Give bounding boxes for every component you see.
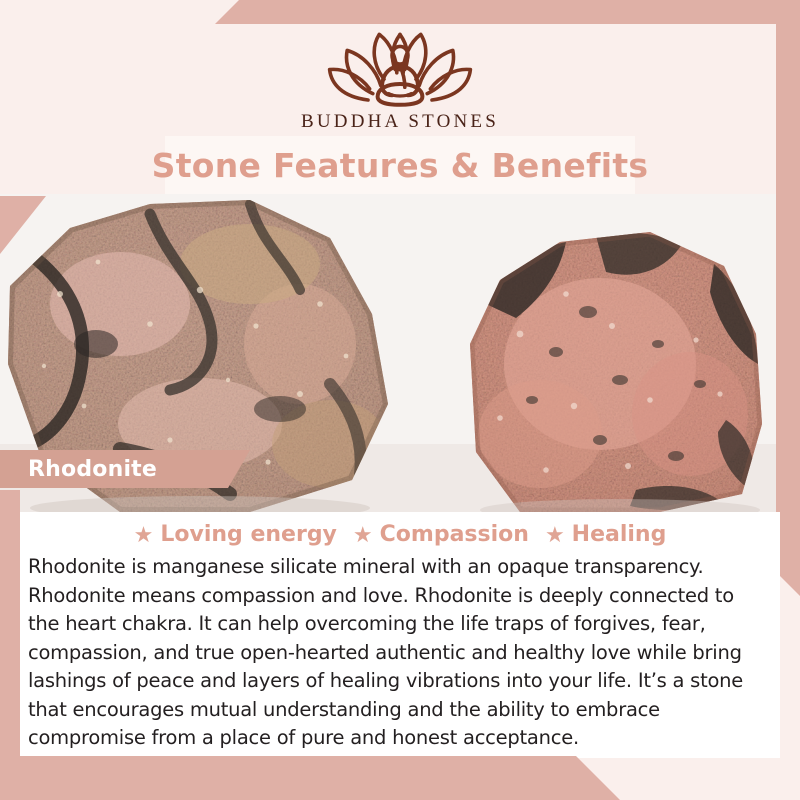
feature-label: Healing [572,522,667,547]
brand-header: BUDDHA STONES [0,20,800,145]
feature-item-loving-energy: ★ Loving energy [134,522,337,547]
stone-name: Rhodonite [0,457,157,482]
infographic-poster: BUDDHA STONES Stone Features & Benefits [0,0,800,800]
feature-list: ★ Loving energy ★ Compassion ★ Healing [20,512,780,547]
description-panel: ★ Loving energy ★ Compassion ★ Healing R… [20,512,780,758]
feature-item-healing: ★ Healing [545,522,666,547]
stone-name-tag: Rhodonite [0,450,250,488]
star-icon: ★ [353,524,373,546]
page-title: Stone Features & Benefits [152,146,649,185]
title-banner: Stone Features & Benefits [165,136,635,194]
star-icon: ★ [545,524,565,546]
star-icon: ★ [134,524,154,546]
feature-label: Compassion [380,522,529,547]
stone-description: Rhodonite is manganese silicate mineral … [28,553,770,753]
feature-label: Loving energy [160,522,337,547]
lotus-meditation-icon [320,20,480,108]
decor-bottom-bar [0,756,620,800]
brand-name: BUDDHA STONES [301,111,499,133]
feature-item-compassion: ★ Compassion [353,522,529,547]
decor-left-strip [0,490,20,758]
